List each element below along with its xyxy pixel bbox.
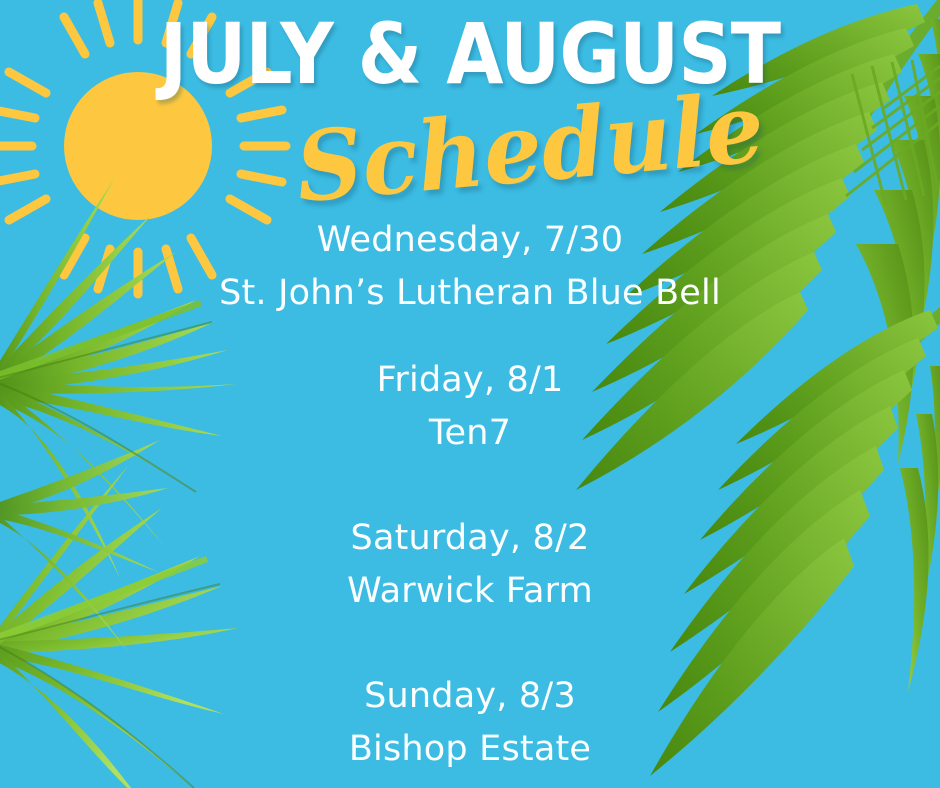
palm-frond-icon: [0, 0, 940, 788]
poster-canvas: JULY & AUGUST Schedule Wednesday, 7/30 S…: [0, 0, 940, 788]
